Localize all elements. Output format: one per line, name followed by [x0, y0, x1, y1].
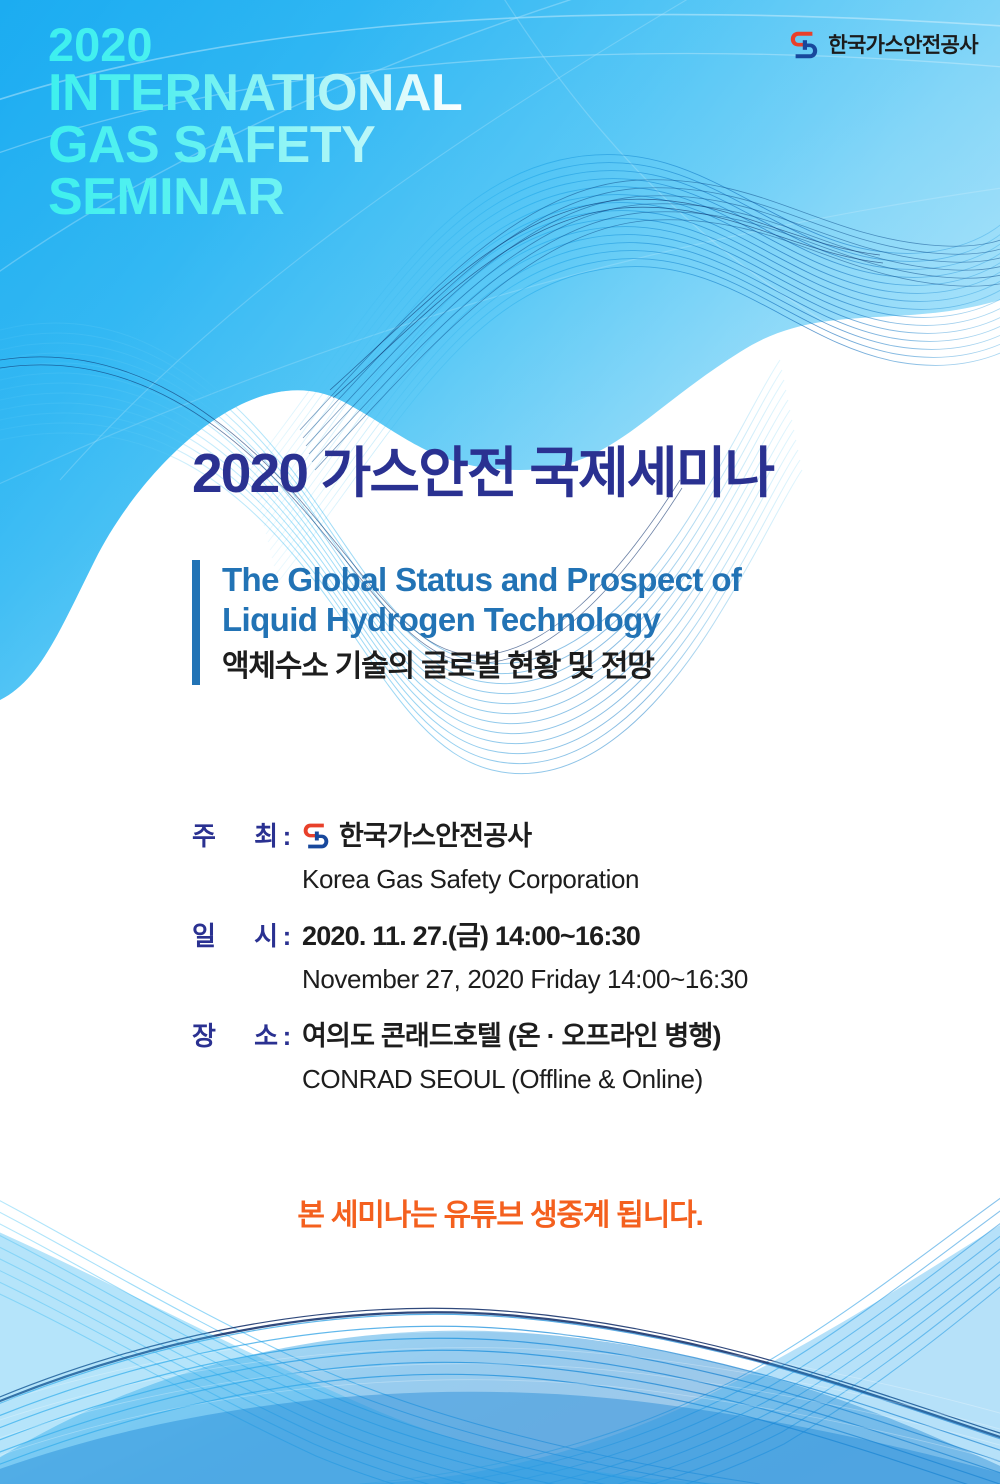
wordmark-year: 2020 [48, 22, 568, 67]
kgs-logo-icon-inline [302, 822, 330, 850]
wordmark-line-international: INTERNATIONAL [48, 69, 568, 119]
detail-datetime-en: November 27, 2020 Friday 14:00~16:30 [302, 962, 912, 996]
detail-host-name: 한국가스안전공사 [339, 818, 531, 854]
detail-values-venue: 여의도 콘래드호텔 (온 · 오프라인 병행) CONRAD SEOUL (Of… [296, 1018, 912, 1096]
detail-values-datetime: 2020. 11. 27.(금) 14:00~16:30 November 27… [296, 918, 912, 996]
brand-logo-text: 한국가스안전공사 [828, 35, 978, 56]
kgs-brand-logo: 한국가스안전공사 [789, 30, 978, 60]
detail-label-venue: 장 소 [192, 1018, 278, 1054]
event-wordmark: 2020 INTERNATIONAL GAS SAFETY SEMINAR [48, 22, 568, 223]
detail-colon-datetime: : [278, 918, 296, 954]
detail-row-datetime: 일 시 : 2020. 11. 27.(금) 14:00~16:30 Novem… [192, 918, 912, 996]
detail-host-main: 한국가스안전공사 [302, 818, 912, 854]
detail-venue-en: CONRAD SEOUL (Offline & Online) [302, 1062, 912, 1096]
subtitle-block: The Global Status and Prospect of Liquid… [192, 560, 922, 685]
wordmark-line-gas-safety: GAS SAFETY [48, 121, 568, 171]
livestream-notice: 본 세미나는 유튜브 생중계 됩니다. [0, 1190, 1000, 1234]
detail-host-name-en: Korea Gas Safety Corporation [302, 862, 912, 896]
detail-row-venue: 장 소 : 여의도 콘래드호텔 (온 · 오프라인 병행) CONRAD SEO… [192, 1018, 912, 1096]
detail-colon-host: : [278, 818, 296, 854]
poster-canvas: 2020 INTERNATIONAL GAS SAFETY SEMINAR 한국… [0, 0, 1000, 1484]
detail-label-host-a: 주 [192, 818, 216, 854]
page-title: 2020 가스안전 국제세미나 [192, 446, 773, 501]
subtitle-english: The Global Status and Prospect of Liquid… [222, 560, 922, 639]
detail-venue-ko: 여의도 콘래드호텔 (온 · 오프라인 병행) [302, 1018, 912, 1054]
wordmark-line-seminar: SEMINAR [48, 173, 568, 223]
detail-label-datetime-a: 일 [192, 918, 216, 954]
detail-values-host: 한국가스안전공사 Korea Gas Safety Corporation [296, 818, 912, 896]
detail-label-host-b: 최 [254, 818, 278, 854]
detail-label-host: 주 최 [192, 818, 278, 854]
detail-label-venue-a: 장 [192, 1018, 216, 1054]
subtitle-korean: 액체수소 기술의 글로벌 현황 및 전망 [222, 649, 922, 685]
kgs-logo-icon [789, 30, 819, 60]
detail-row-host: 주 최 : 한국가스안전공사 Korea Gas Safety Corporat… [192, 818, 912, 896]
detail-label-venue-b: 소 [254, 1018, 278, 1054]
event-details: 주 최 : 한국가스안전공사 Korea Gas Safety Corporat… [192, 818, 912, 1118]
detail-label-datetime: 일 시 [192, 918, 278, 954]
detail-colon-venue: : [278, 1018, 296, 1054]
detail-label-datetime-b: 시 [254, 918, 278, 954]
detail-datetime-ko: 2020. 11. 27.(금) 14:00~16:30 [302, 918, 912, 954]
